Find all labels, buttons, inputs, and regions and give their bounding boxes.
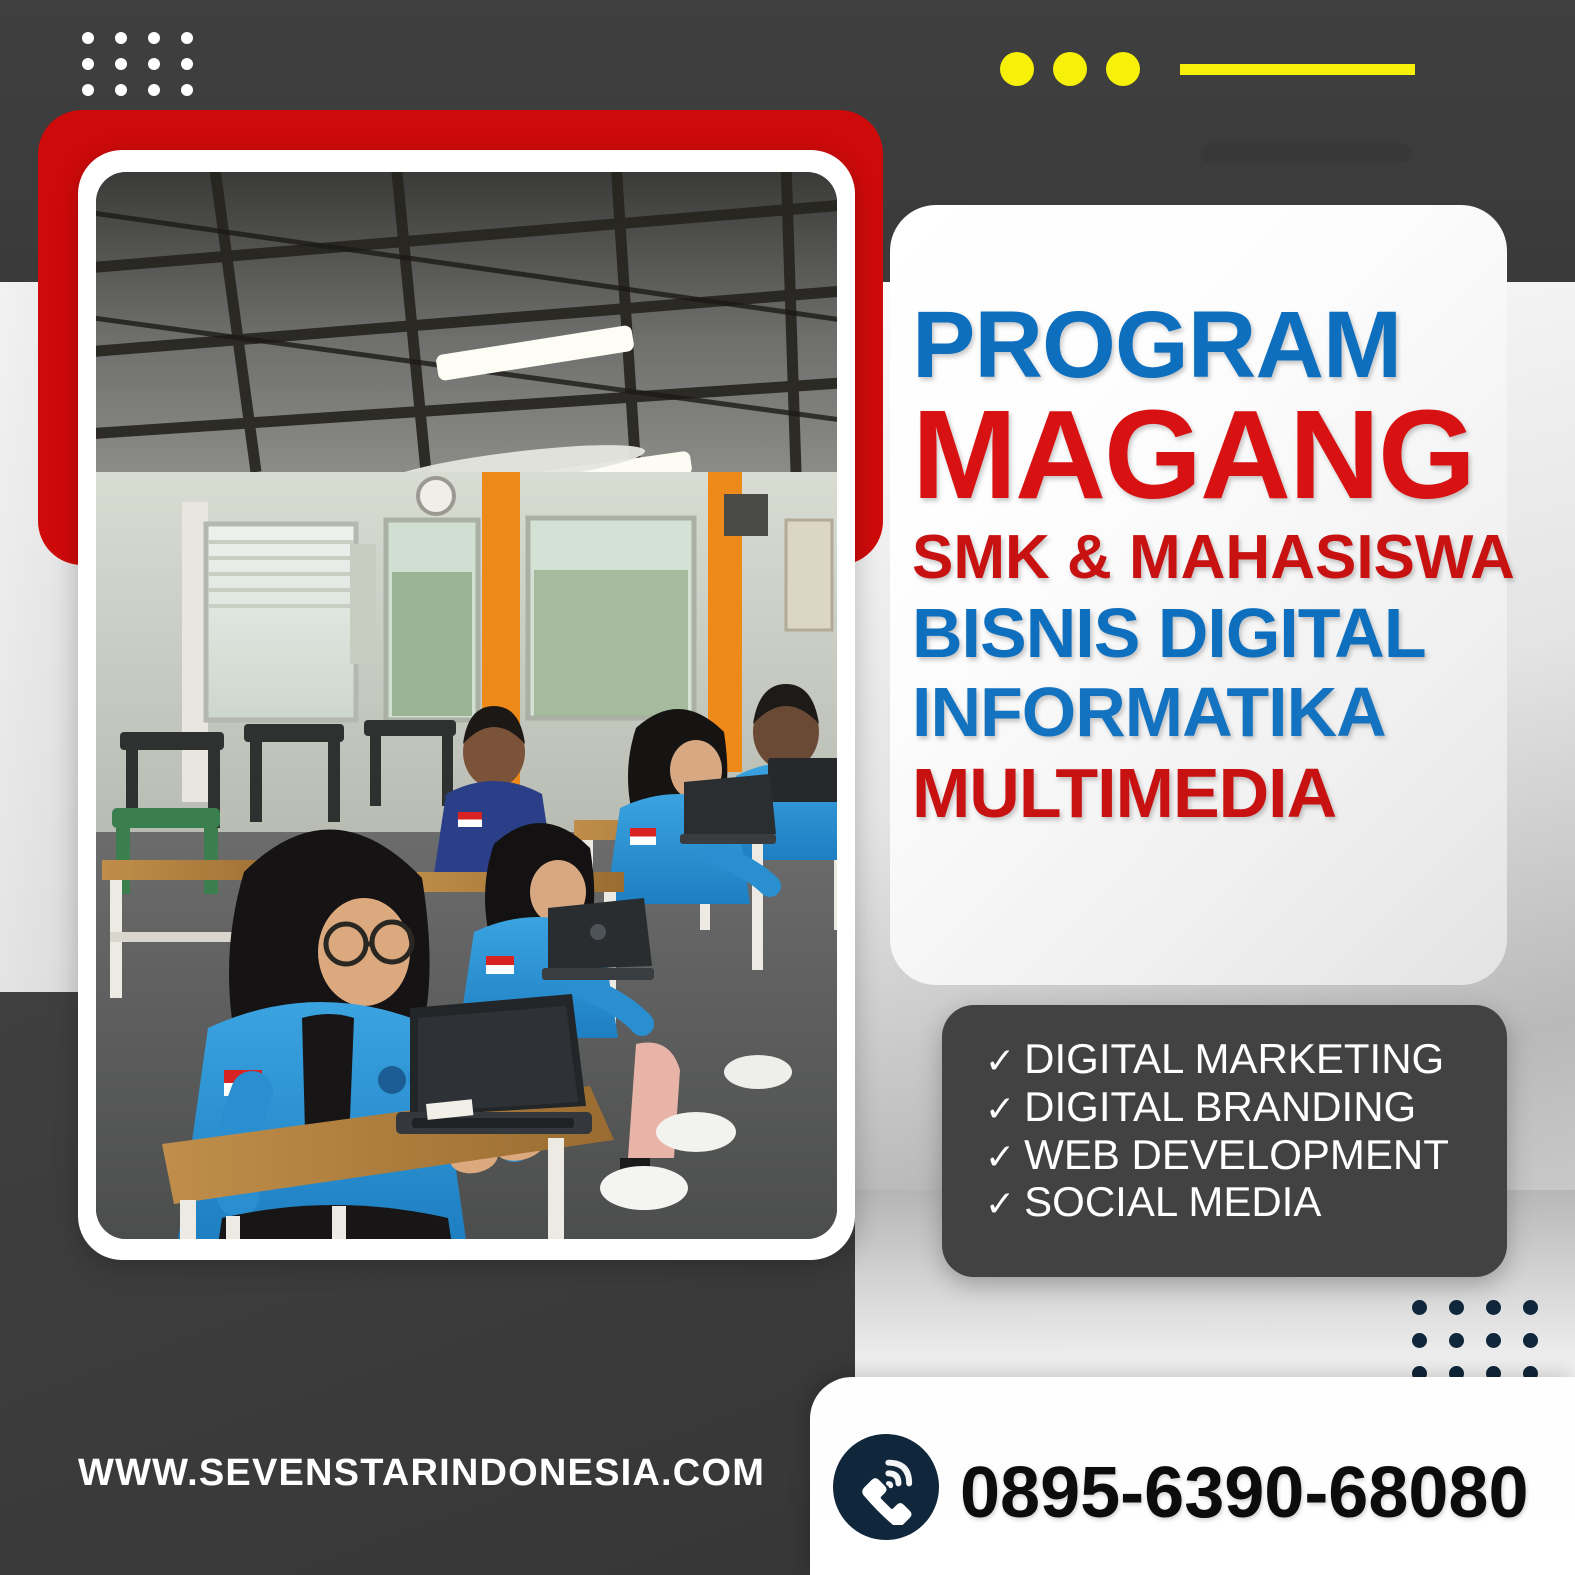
dot [1412, 1333, 1427, 1348]
phone-number[interactable]: 0895-6390-68080 [960, 1452, 1529, 1534]
headline-line-bisnis: BISNIS DIGITAL [912, 600, 1512, 667]
service-label: DIGITAL BRANDING [1024, 1086, 1416, 1129]
website-url[interactable]: WWW.SEVENSTARINDONESIA.COM [78, 1452, 765, 1495]
yellow-dot [1053, 52, 1087, 86]
dot [1486, 1300, 1501, 1315]
dot [115, 84, 127, 96]
decor-dot-grid-bottom-right [1412, 1300, 1538, 1381]
check-icon: ✓ [985, 1091, 1015, 1128]
service-label: WEB DEVELOPMENT [1024, 1134, 1449, 1177]
dot [1449, 1333, 1464, 1348]
dot [115, 58, 127, 70]
decor-ghost-bar [1200, 143, 1412, 163]
service-item: ✓ SOCIAL MEDIA [985, 1181, 1505, 1224]
dot [1412, 1300, 1427, 1315]
service-label: SOCIAL MEDIA [1024, 1181, 1321, 1224]
headline-line-multimedia: MULTIMEDIA [912, 760, 1512, 827]
phone-ring-icon [833, 1434, 939, 1540]
classroom-photo [96, 172, 837, 1239]
headline-line-program: PROGRAM [912, 300, 1512, 391]
dot [148, 58, 160, 70]
yellow-dot [1106, 52, 1140, 86]
yellow-dot [1000, 52, 1034, 86]
dot [1523, 1300, 1538, 1315]
headline-line-informatika: INFORMATIKA [912, 679, 1512, 746]
decor-yellow-bar [1180, 64, 1415, 75]
headline-line-magang: MAGANG [912, 395, 1512, 516]
check-icon: ✓ [985, 1186, 1015, 1223]
services-list: ✓ DIGITAL MARKETING ✓ DIGITAL BRANDING ✓… [985, 1038, 1505, 1229]
dot [148, 32, 160, 44]
check-icon: ✓ [985, 1139, 1015, 1176]
headline-line-audience: SMK & MAHASISWA [912, 528, 1512, 588]
dot [82, 32, 94, 44]
decor-yellow-dots [1000, 52, 1140, 86]
dot [148, 84, 160, 96]
service-item: ✓ WEB DEVELOPMENT [985, 1134, 1505, 1177]
dot [1486, 1333, 1501, 1348]
decor-dot-grid-top-left [82, 32, 193, 96]
dot [82, 58, 94, 70]
dot [181, 84, 193, 96]
dot [82, 84, 94, 96]
dot [1523, 1333, 1538, 1348]
service-item: ✓ DIGITAL BRANDING [985, 1086, 1505, 1129]
dot [1449, 1300, 1464, 1315]
dot [181, 32, 193, 44]
dot [181, 58, 193, 70]
dot [115, 32, 127, 44]
headline-text-stack: PROGRAM MAGANG SMK & MAHASISWA BISNIS DI… [912, 300, 1512, 827]
service-item: ✓ DIGITAL MARKETING [985, 1038, 1505, 1081]
check-icon: ✓ [985, 1043, 1015, 1080]
service-label: DIGITAL MARKETING [1024, 1038, 1444, 1081]
